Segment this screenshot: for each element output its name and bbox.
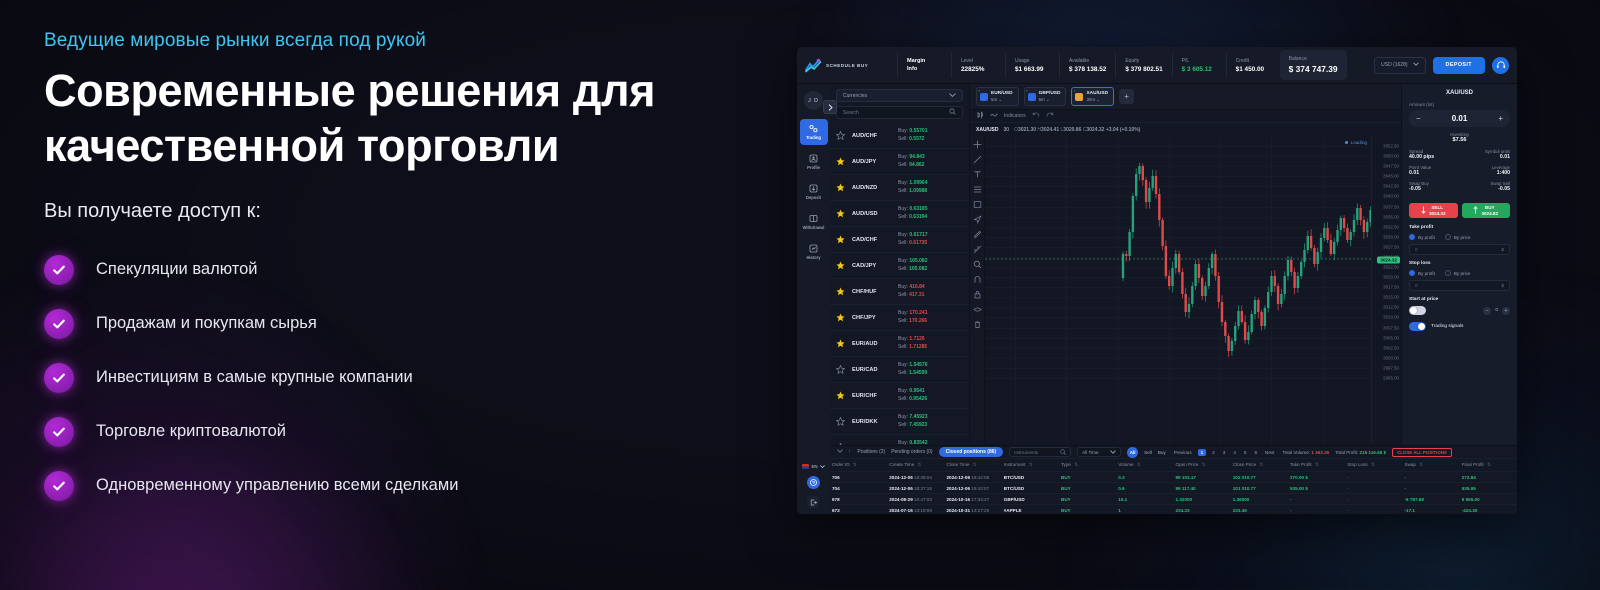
magnet-icon[interactable] (973, 275, 982, 284)
column-header[interactable]: Close Price ⇅ (1231, 459, 1288, 472)
pager-page-4[interactable]: 4 (1231, 450, 1238, 455)
pencil-icon[interactable] (973, 230, 982, 239)
instrument-row[interactable]: AUD/CHFBuy: 0.55701Sell: 0.5572 (830, 123, 969, 149)
cell-final-profit: -424.30 (1460, 505, 1517, 515)
period-select[interactable]: All Time (1077, 447, 1121, 457)
column-header[interactable]: Final Profit ⇅ (1460, 459, 1517, 472)
total-volume: Total Volume: 1 363.36 (1282, 450, 1329, 455)
sell-price: 1.71285 (909, 344, 927, 350)
instrument-row[interactable]: EUR/AUDBuy: 1.7126Sell: 1.71285 (830, 331, 969, 357)
undo-icon[interactable] (1032, 112, 1040, 120)
cell-instrument: BTC/USD (1002, 472, 1059, 483)
instrument-group-select[interactable]: Currencies (836, 89, 963, 102)
favorite-star-icon[interactable] (836, 209, 845, 218)
feature-label: Продажам и покупкам сырья (96, 314, 317, 333)
radio-label: By profit (1418, 271, 1435, 276)
instrument-name: AUD/NZD (852, 185, 898, 191)
investing-block: Investing $7.56 (1409, 132, 1510, 143)
chart-tab-timeframe: 30m ⌄ (1086, 97, 1108, 103)
take-profit-by-price[interactable]: By price (1445, 234, 1471, 240)
instrument-row[interactable]: EUR/DKKBuy: 7.45923Sell: 7.45923 (830, 409, 969, 435)
ohlc-high: 3024.41 (1041, 127, 1059, 133)
feature-label: Инвестициям в самые крупные компании (96, 368, 413, 387)
fib-icon[interactable] (973, 185, 982, 194)
collapse-panel-button[interactable] (823, 100, 837, 114)
instrument-group-label: Currencies (843, 93, 867, 99)
language-selector[interactable]: EN (802, 464, 824, 469)
metric-value: 1:400 (1460, 170, 1511, 176)
price-tick: 3010.00 (1383, 315, 1399, 320)
radio-icon (1445, 234, 1451, 240)
feature-list: Спекуляции валютой Продажам и покупкам с… (44, 243, 764, 513)
stop-loss-by-price[interactable]: By price (1445, 270, 1471, 276)
table-header-row: Order ID ⇅Create Time ⇅Close Time ⇅Instr… (830, 459, 1517, 472)
cell-order-id: 673 (830, 505, 887, 515)
cell-order-id: 704 (830, 483, 887, 494)
instrument-row[interactable]: CHF/HUFBuy: 416.84Sell: 417.31 (830, 279, 969, 305)
cell-swap: - (1403, 472, 1460, 483)
metric-swap-sell: Swap Sell -0.05 (1460, 181, 1511, 192)
sell-price: 3024.32 (1429, 211, 1446, 216)
chart-tab-timeframe: 5m ⌄ (991, 97, 1013, 103)
shapes-icon[interactable] (973, 200, 982, 209)
positions-panel: ⁞ Positions (2) Pending orders (0) Close… (830, 445, 1517, 514)
favorite-star-icon[interactable] (836, 157, 845, 166)
instrument-name: CAD/JPY (852, 263, 898, 269)
favorite-star-icon[interactable] (836, 365, 845, 374)
cell-create-time: 2024-12-06 18:39:04 (887, 472, 944, 483)
indicators-label[interactable]: Indicators (1004, 113, 1026, 119)
total-volume-label: Total Volume: (1282, 450, 1310, 455)
instrument-name: EUR/DKK (852, 419, 898, 425)
buy-price: 0.9541 (909, 388, 924, 394)
positions-toolbar: ⁞ Positions (2) Pending orders (0) Close… (830, 446, 1517, 459)
chevron-down-icon (1413, 62, 1419, 68)
instrument-prices: Buy: 1.09964Sell: 1.09988 (898, 180, 927, 195)
cell-final-profit: 272.84 (1460, 472, 1517, 483)
sidebar-item-label: History (806, 255, 820, 260)
take-profit-unit: $ (1501, 247, 1504, 252)
stat-balance: Balance $ 374 747.39 (1280, 50, 1347, 80)
table-row[interactable]: 6782024-08-29 10:47:032024-10-16 17:34:2… (830, 494, 1517, 505)
take-profit-value: 0 (1415, 247, 1418, 252)
buy-price: 105.082 (909, 258, 927, 264)
total-profit-value: 215 116.68 $ (1359, 450, 1386, 455)
ohlc-change: +3.04 (+0.10%) (1106, 127, 1140, 133)
stat-value: $ 379 802.51 (1125, 66, 1162, 73)
add-chart-tab-button[interactable]: + (1119, 89, 1134, 104)
price-tick: 3020.00 (1383, 275, 1399, 280)
metric-swap-buy: Swap Buy -0.05 (1409, 181, 1460, 192)
instrument-prices: Buy: 94.843Sell: 94.862 (898, 154, 925, 169)
price-tick: 3045.00 (1383, 174, 1399, 179)
sell-price: 0.95426 (909, 396, 927, 402)
chart-tab-gbpusd[interactable]: ×GBP/USD5m ⌄ (1024, 87, 1067, 106)
instrument-prices: Buy: 170.241Sell: 170.266 (898, 310, 927, 325)
instrument-name: EUR/CAD (852, 367, 898, 373)
cell-take-profit: - (1288, 494, 1345, 505)
stat-credit: Credit $1 450.00 (1226, 52, 1280, 78)
stat-pl: P/L $ 3 605.12 (1172, 52, 1226, 78)
take-profit-section: Take profit By profit By price 0 $ (1409, 225, 1510, 255)
amount-label: Amount (lot) (1409, 102, 1510, 107)
sell-price: 105.082 (909, 266, 927, 272)
instruments-search-input[interactable]: Instruments (1009, 447, 1071, 457)
chart-tab-eurusd[interactable]: ×EUR/USD5m ⌄ (976, 87, 1019, 106)
stat-label: Margin (907, 58, 942, 64)
cell-create-time: 2024-12-06 18:37:18 (887, 483, 944, 494)
metric-value: -0.05 (1460, 186, 1511, 192)
instrument-prices: Buy: 1.54576Sell: 1.54599 (898, 362, 927, 377)
buy-price: 0.55701 (909, 128, 927, 134)
favorite-star-icon[interactable] (836, 287, 845, 296)
deposit-button[interactable]: DEPOSIT (1433, 57, 1485, 74)
tab-closed-positions[interactable]: Closed positions (86) (939, 447, 1004, 457)
column-header[interactable]: Create Time ⇅ (887, 459, 944, 472)
buy-button[interactable]: BUY 3024.82 (1462, 203, 1511, 218)
cell-volume: 15.1 (1116, 494, 1173, 505)
instrument-row[interactable]: AUD/NZDBuy: 1.09964Sell: 1.09988 (830, 175, 969, 201)
instrument-name: AUD/JPY (852, 159, 898, 165)
increment-button[interactable]: + (1498, 115, 1503, 123)
symbol-badge-icon (980, 93, 988, 101)
stat-label: Balance (1289, 56, 1338, 62)
price-tick: 3002.50 (1383, 345, 1399, 350)
cell-swap: -6 787.68 (1403, 494, 1460, 505)
table-body: 7062024-12-06 18:39:042024-12-06 19:42:0… (830, 472, 1517, 515)
buy-price: 416.84 (909, 284, 924, 290)
sell-price: 0.61735 (909, 240, 927, 246)
stepper-value: 0 (1495, 308, 1498, 313)
buy-price: 94.843 (909, 154, 924, 160)
search-placeholder: Instruments (1014, 450, 1038, 455)
price-tick: 3000.00 (1383, 355, 1399, 360)
metric-point-value: Point Value 0.01 (1409, 165, 1460, 176)
user-icon (809, 154, 818, 163)
trading-signals-row: Trading signals (1409, 322, 1510, 331)
sell-price: 94.862 (909, 162, 924, 168)
pager-next[interactable]: Next (1263, 450, 1276, 455)
favorite-star-icon[interactable] (836, 391, 845, 400)
eye-icon[interactable] (973, 305, 982, 314)
trading-signals-label: Trading signals (1431, 324, 1463, 329)
arrow-icon[interactable] (973, 215, 982, 224)
cell-close-price: 1.36000 (1231, 494, 1288, 505)
candlestick-series (985, 136, 1371, 388)
close-icon[interactable]: × (1026, 88, 1028, 93)
filter-buy-button[interactable]: Buy (1158, 450, 1166, 455)
decrement-button[interactable]: − (1416, 115, 1421, 123)
cell-volume: 0.6 (1116, 483, 1173, 494)
stat-equity: Equity $ 379 802.51 (1115, 52, 1171, 78)
cell-create-time: 2024-08-29 10:47:03 (887, 494, 944, 505)
check-icon (44, 309, 74, 339)
column-header[interactable]: Stop Loss ⇅ (1345, 459, 1402, 472)
column-header[interactable]: Volume ⇅ (1116, 459, 1173, 472)
cell-type: BUY (1059, 483, 1116, 494)
column-header[interactable]: Instrument ⇅ (1002, 459, 1059, 472)
cell-open-price: 1.32000 (1174, 494, 1231, 505)
cell-swap: - (1403, 483, 1460, 494)
stop-loss-value: 0 (1415, 283, 1418, 288)
sidebar-item-history[interactable]: History (800, 239, 828, 265)
currency-select[interactable]: USD (1628) (1374, 57, 1425, 74)
crosshair-icon[interactable] (973, 140, 982, 149)
page-title: Современные решения для качественной тор… (44, 64, 734, 174)
buy-price: 0.61717 (909, 232, 927, 238)
filter-sell-button[interactable]: Sell (1144, 450, 1152, 455)
chevron-down-icon[interactable] (837, 449, 843, 455)
table-row[interactable]: 7062024-12-06 18:39:042024-12-06 19:42:0… (830, 472, 1517, 483)
instrument-prices: Buy: 0.61717Sell: 0.61735 (898, 232, 927, 247)
stat-value: Info (907, 66, 942, 72)
arrow-down-icon (1421, 206, 1426, 215)
instrument-name: CAD/CHF (852, 237, 898, 243)
metric-spread: Spread 40.00 pips (1409, 149, 1460, 160)
column-header[interactable]: Close Time ⇅ (945, 459, 1002, 472)
instrument-row[interactable]: CAD/JPYBuy: 105.082Sell: 105.082 (830, 253, 969, 279)
cell-open-price: 99 117.40 (1174, 483, 1231, 494)
stop-loss-input[interactable]: 0 $ (1409, 280, 1510, 291)
price-tick: 3047.50 (1383, 164, 1399, 169)
favorite-star-icon[interactable] (836, 417, 845, 426)
quantity-stepper[interactable]: − 0.01 + (1409, 110, 1510, 127)
feature-label: Торговле криптовалютой (96, 422, 286, 441)
cell-volume: 1 (1116, 505, 1173, 515)
amount-value[interactable]: 0.01 (1452, 114, 1468, 123)
feature-label: Одновременному управлению всеми сделками (96, 476, 458, 495)
table-row[interactable]: 7042024-12-06 18:37:182024-12-06 19:42:0… (830, 483, 1517, 494)
indicators-icon[interactable] (990, 111, 998, 121)
chart-tab-timeframe: 5m ⌄ (1039, 97, 1061, 103)
chart-tab-xauusd[interactable]: ×XAU/USD30m ⌄ (1071, 87, 1114, 106)
trading-signals-toggle[interactable] (1409, 322, 1426, 331)
history-icon (809, 244, 818, 253)
sidebar-bottom: EN (802, 464, 824, 514)
brand-name: SCHEDULE BUY (826, 63, 868, 68)
current-price-badge: 3024.32 (1377, 257, 1400, 264)
pager-page-6[interactable]: 6 (1252, 450, 1259, 455)
cell-final-profit: 6 655.00 (1460, 494, 1517, 505)
list-item: Торговле криптовалютой (44, 405, 764, 459)
cell-take-profit: 270.00 $ (1288, 472, 1345, 483)
hero-subhead: Вы получаете доступ к: (44, 200, 764, 223)
metric-value: 40.00 pips (1409, 154, 1460, 160)
sidebar-item-withdrawal[interactable]: Withdrawal (800, 209, 828, 235)
cell-close-time: 2024-12-06 19:42:08 (945, 472, 1002, 483)
price-tick: 3022.50 (1383, 265, 1399, 270)
filter-all-button[interactable]: All (1127, 447, 1138, 458)
pager-previous[interactable]: Previous (1172, 450, 1194, 455)
instrument-prices: Buy: 416.84Sell: 417.31 (898, 284, 925, 299)
column-header[interactable]: Swap ⇅ (1403, 459, 1460, 472)
cell-create-time: 2024-07-16 13:19:59 (887, 505, 944, 515)
candles-icon[interactable] (976, 111, 984, 121)
pagination: Previous 1 2 3 4 5 6 Next (1172, 449, 1277, 456)
price-tick: 3007.50 (1383, 325, 1399, 330)
start-at-price-toggle[interactable] (1409, 306, 1426, 315)
cell-final-profit: 535.95 (1460, 483, 1517, 494)
tab-positions[interactable]: Positions (2) (857, 449, 885, 455)
price-tick: 3050.00 (1383, 154, 1399, 159)
table-row[interactable]: 6732024-07-16 13:19:592024-10-31 13:27:2… (830, 505, 1517, 515)
lock-icon[interactable] (973, 290, 982, 299)
price-tick: 3035.00 (1383, 214, 1399, 219)
column-header[interactable]: Order ID ⇅ (830, 459, 887, 472)
hero-eyebrow: Ведущие мировые рынки всегда под рукой (44, 30, 764, 52)
stop-loss-by-profit[interactable]: By profit (1409, 270, 1435, 276)
chart-timeframe: 30 (1004, 127, 1010, 133)
hero-section: Ведущие мировые рынки всегда под рукой С… (44, 30, 764, 513)
close-icon[interactable]: × (1073, 88, 1075, 93)
redo-icon[interactable] (1046, 112, 1054, 120)
instrument-name: AUD/CHF (852, 133, 898, 139)
order-buttons: SELL 3024.32 BUY 3024.82 (1409, 203, 1510, 218)
chevron-down-icon (1110, 450, 1116, 455)
measure-icon[interactable] (973, 245, 982, 254)
chevron-down-icon (949, 93, 956, 99)
stat-margin: Margin Info (897, 52, 951, 78)
instrument-prices: Buy: 0.63185Sell: 0.63194 (898, 206, 927, 221)
price-tick: 3052.50 (1383, 144, 1399, 149)
total-profit: Total Profit: 215 116.68 $ (1335, 450, 1386, 455)
instrument-prices: Buy: 1.7126Sell: 1.71285 (898, 336, 927, 351)
favorite-star-icon[interactable] (836, 339, 845, 348)
sidebar-item-deposit[interactable]: Deposit (800, 179, 828, 205)
cell-close-time: 2024-12-06 19:42:07 (945, 483, 1002, 494)
instrument-prices: Buy: 0.55701Sell: 0.5572 (898, 128, 927, 143)
sidebar-item-profile[interactable]: Profile (800, 149, 828, 175)
take-profit-mode: By profit By price (1409, 234, 1510, 240)
sidebar-item-label: Trading (806, 135, 821, 140)
trash-icon[interactable] (973, 320, 982, 329)
stat-value: $1 663.99 (1015, 66, 1050, 73)
price-tick: 3012.50 (1383, 305, 1399, 310)
decrement-button[interactable]: − (1483, 307, 1491, 315)
tab-pending-orders[interactable]: Pending orders (0) (891, 449, 932, 455)
order-metrics: Spread 40.00 pips Symbol units 0.01 Poin… (1409, 149, 1510, 197)
withdraw-icon (809, 214, 818, 223)
chart-symbol: XAU/USD (976, 127, 999, 133)
favorite-star-icon[interactable] (836, 313, 845, 322)
search-icon (949, 108, 956, 117)
instrument-row[interactable]: AUD/USDBuy: 0.63185Sell: 0.63194 (830, 201, 969, 227)
favorite-star-icon[interactable] (836, 131, 845, 140)
cell-stop-loss: - (1345, 494, 1402, 505)
cell-type: BUY (1059, 472, 1116, 483)
drag-handle[interactable]: ⁞ (849, 449, 851, 455)
buy-price: 0.63185 (909, 206, 927, 212)
cell-close-price: 102 010.77 (1231, 472, 1288, 483)
column-header[interactable]: Take Profit ⇅ (1288, 459, 1345, 472)
sell-price: 417.31 (909, 292, 924, 298)
metric-leverage: Leverage 1:400 (1460, 165, 1511, 176)
price-stepper[interactable]: − 0 + (1483, 307, 1510, 315)
search-icon (1060, 449, 1066, 456)
favorite-star-icon[interactable] (836, 261, 845, 270)
help-icon[interactable] (807, 476, 820, 489)
instrument-name: CHF/JPY (852, 315, 898, 321)
column-header[interactable]: Open Price ⇅ (1174, 459, 1231, 472)
stop-loss-unit: $ (1501, 283, 1504, 288)
pager-page-2[interactable]: 2 (1210, 450, 1217, 455)
instrument-row[interactable]: CHF/JPYBuy: 170.241Sell: 170.266 (830, 305, 969, 331)
radio-icon (1445, 270, 1451, 276)
buy-price: 1.7126 (909, 336, 924, 342)
list-item: Инвестициям в самые крупные компании (44, 351, 764, 405)
take-profit-input[interactable]: 0 $ (1409, 244, 1510, 255)
chevron-down-icon (820, 464, 825, 469)
stat-label: Equity (1125, 58, 1162, 64)
price-tick: 3030.00 (1383, 234, 1399, 239)
instrument-prices: Buy: 105.082Sell: 105.082 (898, 258, 927, 273)
flag-icon (802, 464, 809, 469)
stat-label: P/L (1182, 58, 1217, 64)
trendline-icon[interactable] (973, 155, 982, 164)
close-icon[interactable]: × (978, 88, 980, 93)
sidebar-item-trading[interactable]: Trading (800, 119, 828, 145)
zoom-icon[interactable] (973, 260, 982, 269)
buy-price: 1.54576 (909, 362, 927, 368)
take-profit-by-profit[interactable]: By profit (1409, 234, 1435, 240)
instrument-name: CHF/HUF (852, 289, 898, 295)
cell-open-price: 234.23 (1174, 505, 1231, 515)
trading-app-screenshot: SCHEDULE BUY Margin Info Level 22825% Us… (797, 47, 1517, 514)
favorite-star-icon[interactable] (836, 183, 845, 192)
app-logo: SCHEDULE BUY (805, 58, 897, 73)
headset-icon[interactable] (1492, 57, 1509, 74)
stop-loss-title: Stop loss (1409, 261, 1510, 266)
chart-quote-header: XAU/USD 30 O3021.30 H3024.41 L3020.86 C3… (970, 123, 1401, 136)
pager-page-3[interactable]: 3 (1221, 450, 1228, 455)
sidebar-item-label: Withdrawal (803, 225, 825, 230)
instrument-row[interactable]: CAD/CHFBuy: 0.61717Sell: 0.61735 (830, 227, 969, 253)
feature-label: Спекуляции валютой (96, 260, 258, 279)
stat-label: Usage (1015, 58, 1050, 64)
buy-price: 170.241 (909, 310, 927, 316)
sell-price: 1.54599 (909, 370, 927, 376)
search-input[interactable]: Search (836, 106, 963, 119)
stop-loss-mode: By profit By price (1409, 270, 1510, 276)
instrument-row[interactable]: AUD/JPYBuy: 94.843Sell: 94.862 (830, 149, 969, 175)
radio-icon (1409, 270, 1415, 276)
sell-price: 0.5572 (909, 136, 924, 142)
cell-instrument: #APPLE (1002, 505, 1059, 515)
metric-value: -0.05 (1409, 186, 1460, 192)
pager-page-5[interactable]: 5 (1242, 450, 1249, 455)
cell-stop-loss: - (1345, 505, 1402, 515)
text-icon[interactable] (973, 170, 982, 179)
radio-label: By profit (1418, 235, 1435, 240)
sidebar-item-label: Deposit (806, 195, 821, 200)
logout-icon[interactable] (807, 496, 819, 508)
avatar[interactable]: J D (804, 91, 823, 110)
cell-order-id: 706 (830, 472, 887, 483)
pager-page-1[interactable]: 1 (1198, 449, 1207, 456)
instrument-row[interactable]: EUR/CADBuy: 1.54576Sell: 1.54599 (830, 357, 969, 383)
stat-label: Level (961, 58, 996, 64)
cell-order-id: 678 (830, 494, 887, 505)
cell-stop-loss: - (1345, 472, 1402, 483)
instrument-row[interactable]: EUR/CHFBuy: 0.9541Sell: 0.95426 (830, 383, 969, 409)
sell-button[interactable]: SELL 3024.32 (1409, 203, 1458, 218)
favorite-star-icon[interactable] (836, 235, 845, 244)
arrow-up-icon (1473, 206, 1478, 215)
close-all-positions-button[interactable]: CLOSE ALL POSITIONS (1392, 448, 1452, 457)
column-header[interactable]: Type ⇅ (1059, 459, 1116, 472)
sidebar-item-label: Profile (807, 165, 820, 170)
increment-button[interactable]: + (1502, 307, 1510, 315)
